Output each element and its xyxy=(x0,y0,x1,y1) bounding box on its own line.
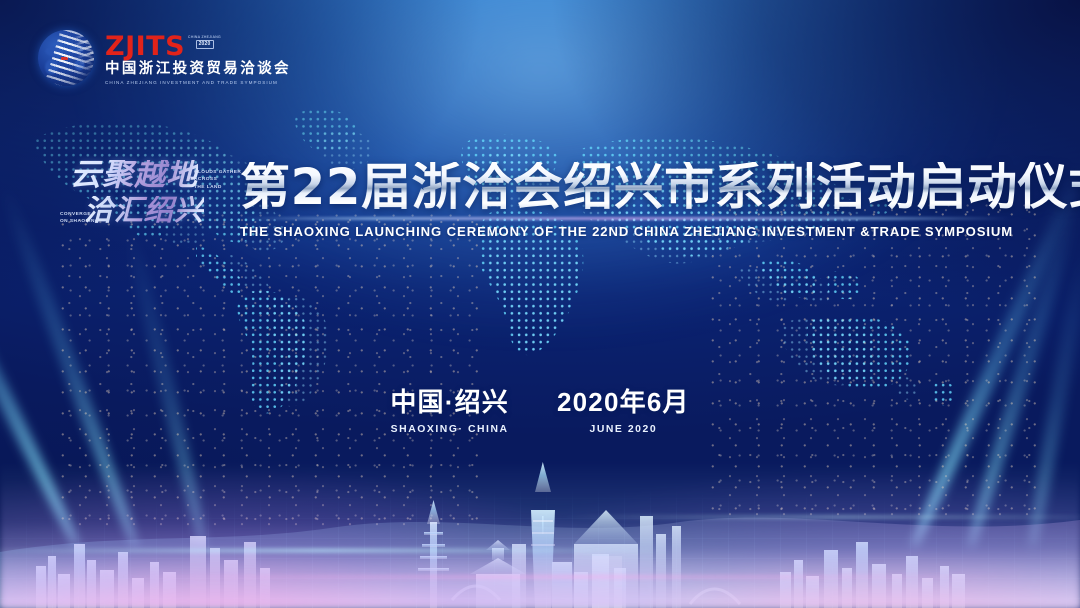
globe-ribbon-icon xyxy=(38,30,94,86)
event-location-cn: 中国·绍兴 xyxy=(390,388,509,417)
calligraphy-block: 云聚越地 洽汇绍兴 CLOUDS GATHER ACROSS THE LAND … xyxy=(62,160,247,242)
logo-badge-year: 2020 xyxy=(196,40,214,49)
poster-canvas: ZJITS CHINA ZHEJIANG 2020 中国浙江投资贸易洽谈会 CH… xyxy=(0,0,1080,608)
title-divider xyxy=(240,217,1012,220)
logo-badge-top: CHINA ZHEJIANG xyxy=(188,36,221,39)
logo-year-badge: CHINA ZHEJIANG 2020 xyxy=(188,33,221,49)
page-subtitle: THE SHAOXING LAUNCHING CEREMONY OF THE 2… xyxy=(240,224,1013,239)
event-meta: 中国·绍兴 SHAOXING· CHINA 2020年6月 JUNE 2020 xyxy=(0,388,1080,435)
event-date: 2020年6月 JUNE 2020 xyxy=(557,388,690,435)
event-date-cn: 2020年6月 xyxy=(557,388,690,417)
light-streak-2 xyxy=(120,576,1020,578)
logo-english-name: CHINA ZHEJIANG INVESTMENT AND TRADE SYMP… xyxy=(105,80,291,85)
light-streak-1 xyxy=(0,549,670,552)
event-location-en: SHAOXING· CHINA xyxy=(390,424,509,435)
zjits-logo[interactable]: ZJITS CHINA ZHEJIANG 2020 中国浙江投资贸易洽谈会 CH… xyxy=(38,30,291,86)
calligraphy-line-1-english: CLOUDS GATHER ACROSS THE LAND xyxy=(194,169,241,191)
event-date-en: JUNE 2020 xyxy=(557,424,690,435)
logo-acronym: ZJITS xyxy=(105,33,185,60)
calligraphy-line-1: 云聚越地 xyxy=(70,160,198,191)
calligraphy-line-2-english: CONVERGE ON SHAOXING xyxy=(60,211,99,226)
event-location: 中国·绍兴 SHAOXING· CHINA xyxy=(390,388,509,435)
page-title: 第22届浙洽会绍兴市系列活动启动仪式 xyxy=(240,162,1080,212)
logo-wordmark: ZJITS CHINA ZHEJIANG 2020 中国浙江投资贸易洽谈会 CH… xyxy=(105,31,291,85)
light-streak-3 xyxy=(560,516,1080,518)
calligraphy-line-2: 洽汇绍兴 xyxy=(84,196,204,225)
logo-chinese-name: 中国浙江投资贸易洽谈会 xyxy=(105,62,291,78)
